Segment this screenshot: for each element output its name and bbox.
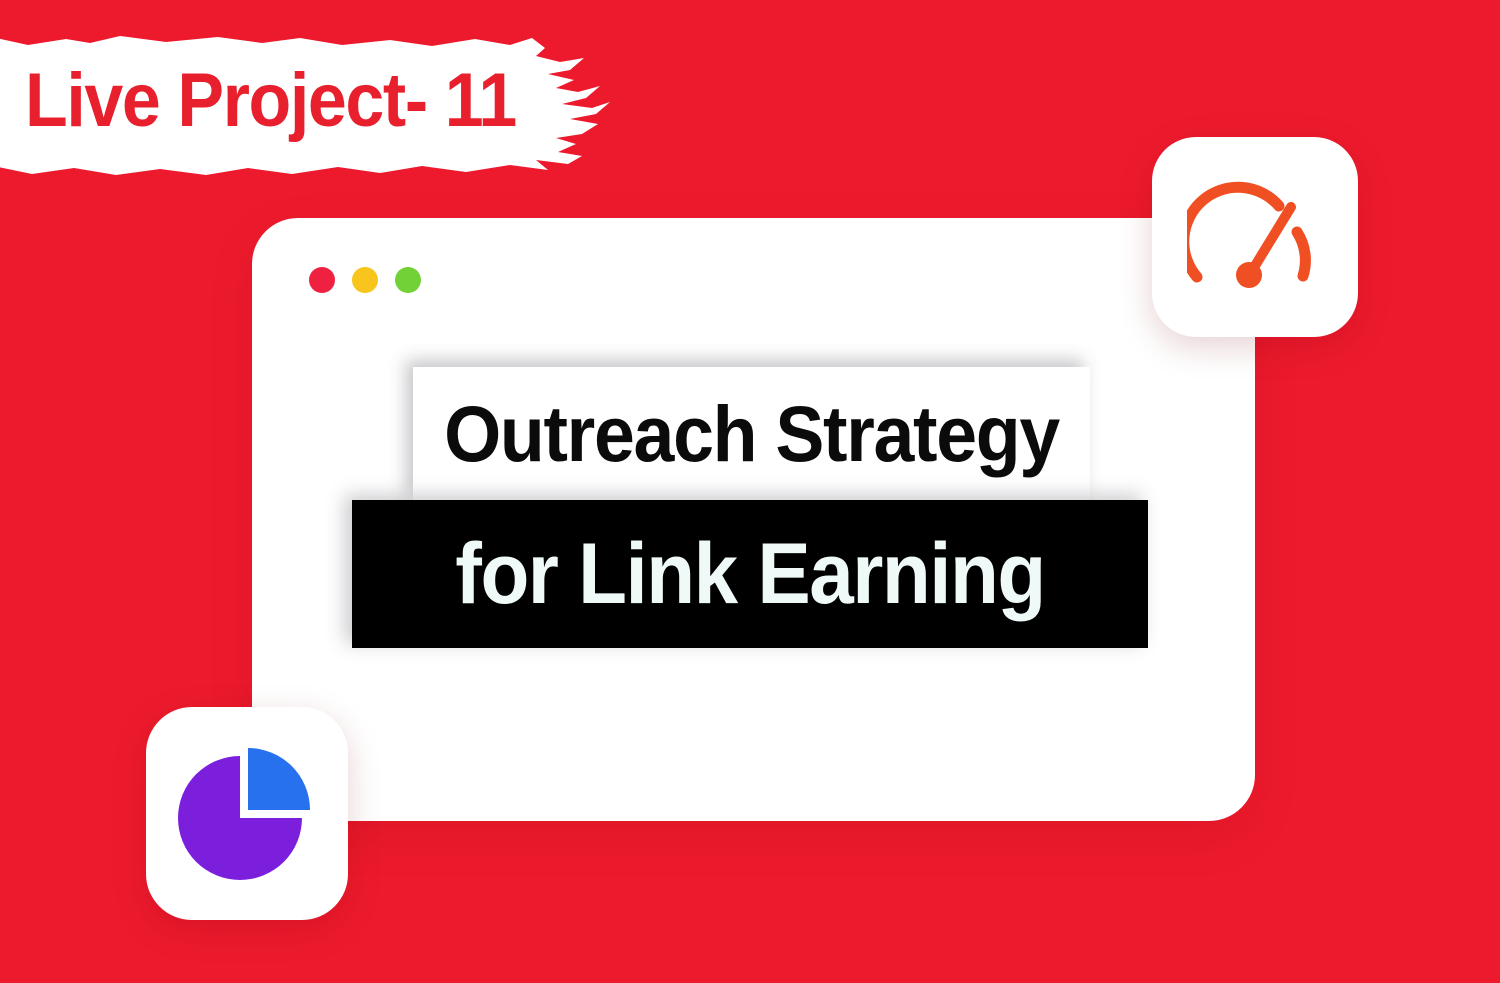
browser-window-mockup: Outreach Strategy for Link Earning	[252, 218, 1255, 821]
headline-group: Outreach Strategy for Link Earning	[252, 218, 1255, 821]
title-line2-text: for Link Earning	[380, 500, 1120, 648]
title-line1-text: Outreach Strategy	[437, 367, 1067, 501]
slide-canvas: Live Project- 11 Outreach Strategy for L…	[0, 0, 1500, 983]
pie-chart-icon	[172, 738, 322, 890]
badge-label: Live Project- 11	[25, 60, 540, 142]
title-line1-panel: Outreach Strategy	[413, 367, 1090, 501]
gauge-icon-card	[1152, 137, 1358, 337]
pie-chart-icon-card	[146, 707, 348, 920]
title-line2-panel: for Link Earning	[352, 500, 1148, 648]
brush-badge: Live Project- 11	[0, 18, 670, 183]
gauge-icon	[1187, 177, 1323, 297]
